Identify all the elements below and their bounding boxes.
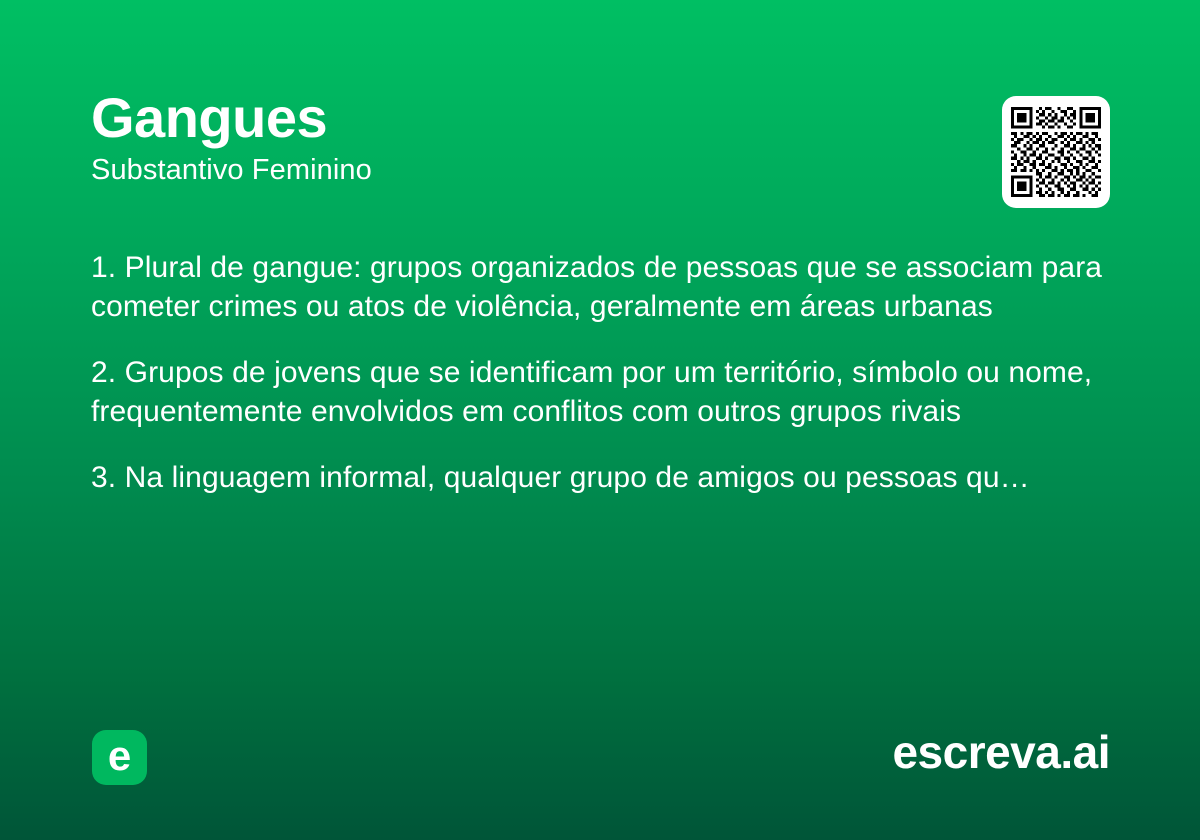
- definitions-list: 1. Plural de gangue: grupos organizados …: [91, 248, 1107, 497]
- card-footer: e escreva.ai: [0, 700, 1200, 840]
- definition-item: 3. Na linguagem informal, qualquer grupo…: [91, 458, 1107, 497]
- brand-wordmark: escreva.ai: [892, 723, 1110, 783]
- definition-item: 2. Grupos de jovens que se identificam p…: [91, 353, 1107, 431]
- definition-item: 1. Plural de gangue: grupos organizados …: [91, 248, 1107, 326]
- entry-header: Gangues Substantivo Feminino: [91, 88, 971, 188]
- page-title: Gangues: [91, 88, 971, 148]
- dictionary-entry-card: Gangues Substantivo Feminino: [0, 0, 1200, 840]
- qr-code-panel[interactable]: [1002, 96, 1110, 208]
- brand-logo-icon: e: [92, 730, 147, 785]
- brand-logo-letter: e: [108, 735, 131, 777]
- entry-part-of-speech: Substantivo Feminino: [91, 154, 971, 187]
- qr-code-icon: [1011, 107, 1101, 197]
